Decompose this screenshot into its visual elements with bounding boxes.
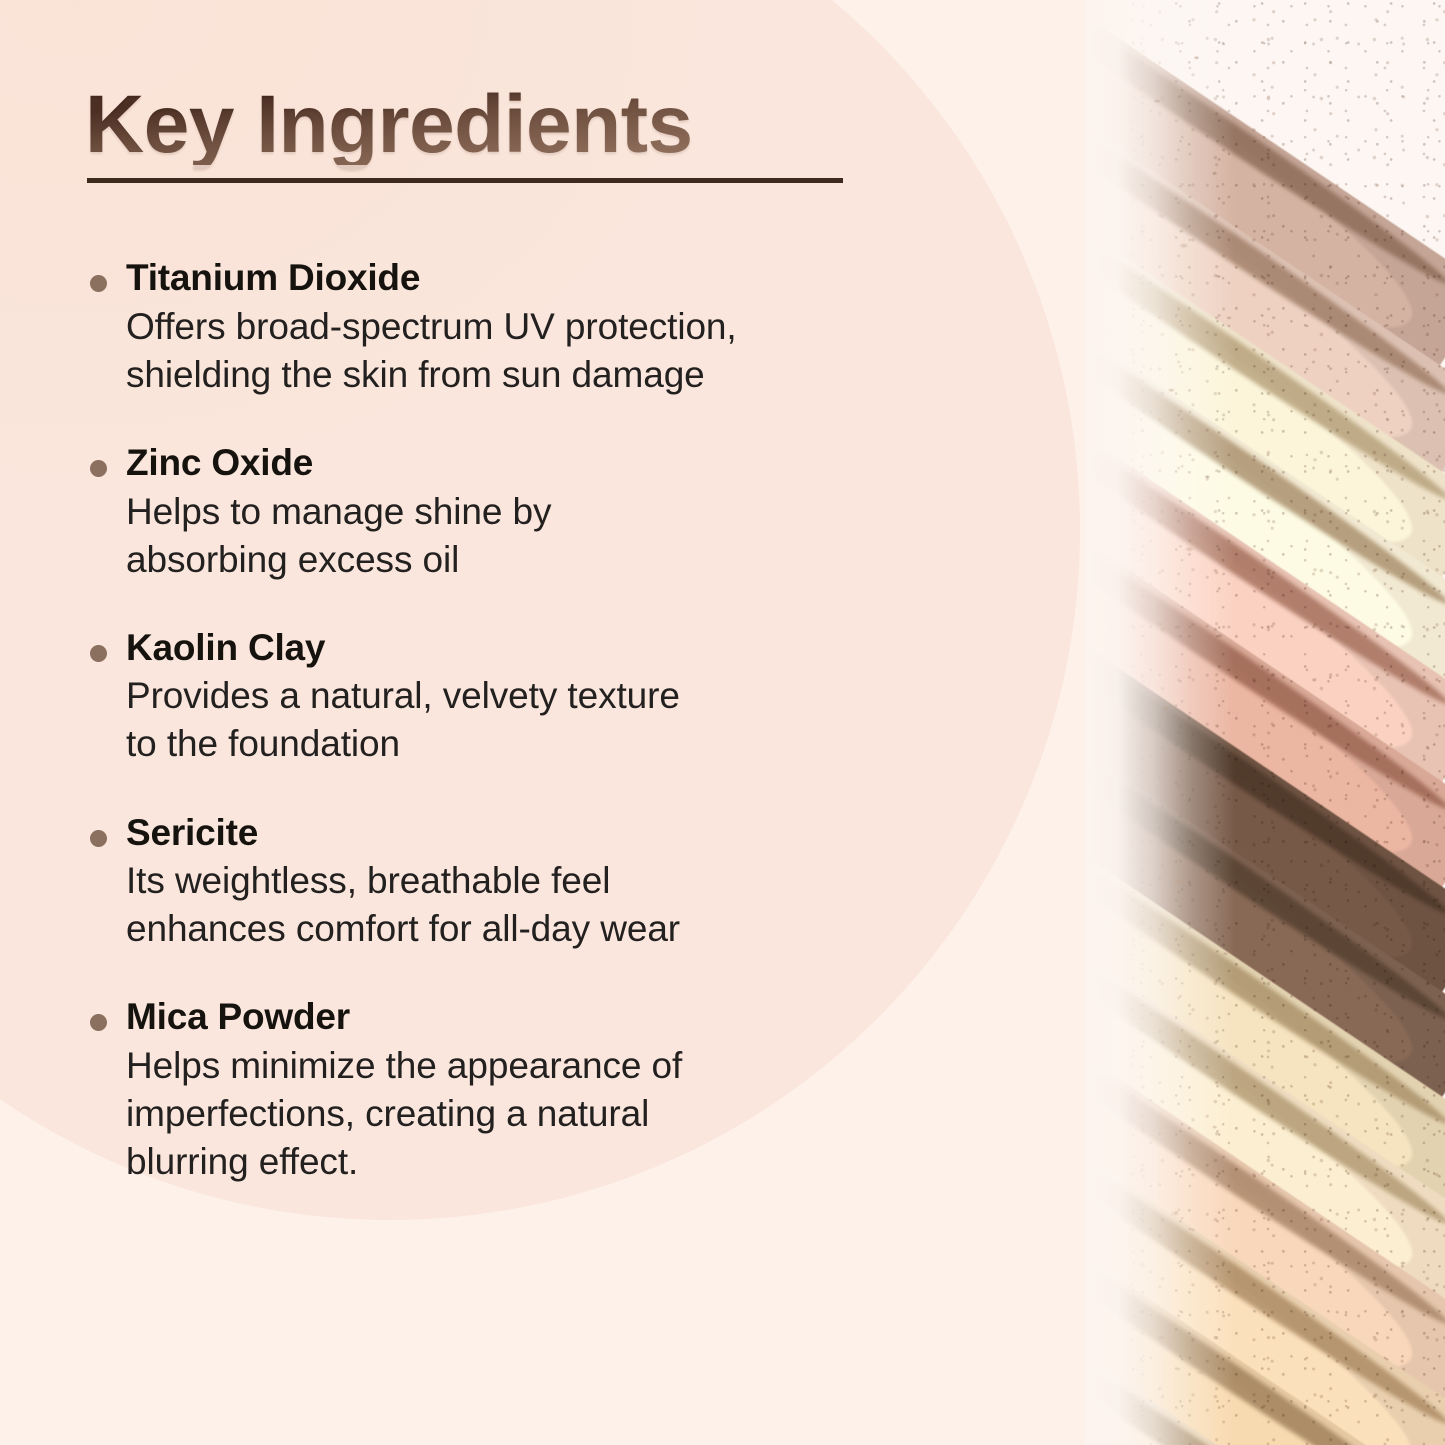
ingredient-description: Provides a natural, velvety texture to t… <box>126 672 965 768</box>
ingredient-description: Offers broad-spectrum UV protection, shi… <box>126 303 965 399</box>
title-underline-rule <box>87 178 843 183</box>
bullet-dot-icon <box>90 1014 107 1031</box>
ingredient-name: Kaolin Clay <box>126 626 965 670</box>
ingredient-description: Helps minimize the appearance of imperfe… <box>126 1042 965 1186</box>
ingredient-description: Helps to manage shine by absorbing exces… <box>126 488 965 584</box>
ingredient-name: Zinc Oxide <box>126 441 965 485</box>
bullet-dot-icon <box>90 275 107 292</box>
page-title: Key Ingredients <box>85 86 845 165</box>
ingredient-item: SericiteIts weightless, breathable feel … <box>85 811 965 954</box>
ingredient-item: Kaolin ClayProvides a natural, velvety t… <box>85 626 965 769</box>
ingredient-name: Mica Powder <box>126 995 965 1039</box>
ingredient-item: Titanium DioxideOffers broad-spectrum UV… <box>85 256 965 399</box>
ingredient-name: Sericite <box>126 811 965 855</box>
ingredient-name: Titanium Dioxide <box>126 256 965 300</box>
key-ingredients-poster: Key Ingredients Titanium DioxideOffers b… <box>0 0 1445 1445</box>
powder-swatch-image <box>1085 0 1445 1445</box>
ingredient-item: Mica PowderHelps minimize the appearance… <box>85 995 965 1186</box>
content-column: Key Ingredients Titanium DioxideOffers b… <box>85 86 965 165</box>
ingredient-description: Its weightless, breathable feel enhances… <box>126 857 965 953</box>
title-block: Key Ingredients <box>85 86 845 165</box>
ingredient-list: Titanium DioxideOffers broad-spectrum UV… <box>85 256 965 1186</box>
ingredient-item: Zinc OxideHelps to manage shine by absor… <box>85 441 965 584</box>
bullet-dot-icon <box>90 830 107 847</box>
bullet-dot-icon <box>90 645 107 662</box>
bullet-dot-icon <box>90 460 107 477</box>
